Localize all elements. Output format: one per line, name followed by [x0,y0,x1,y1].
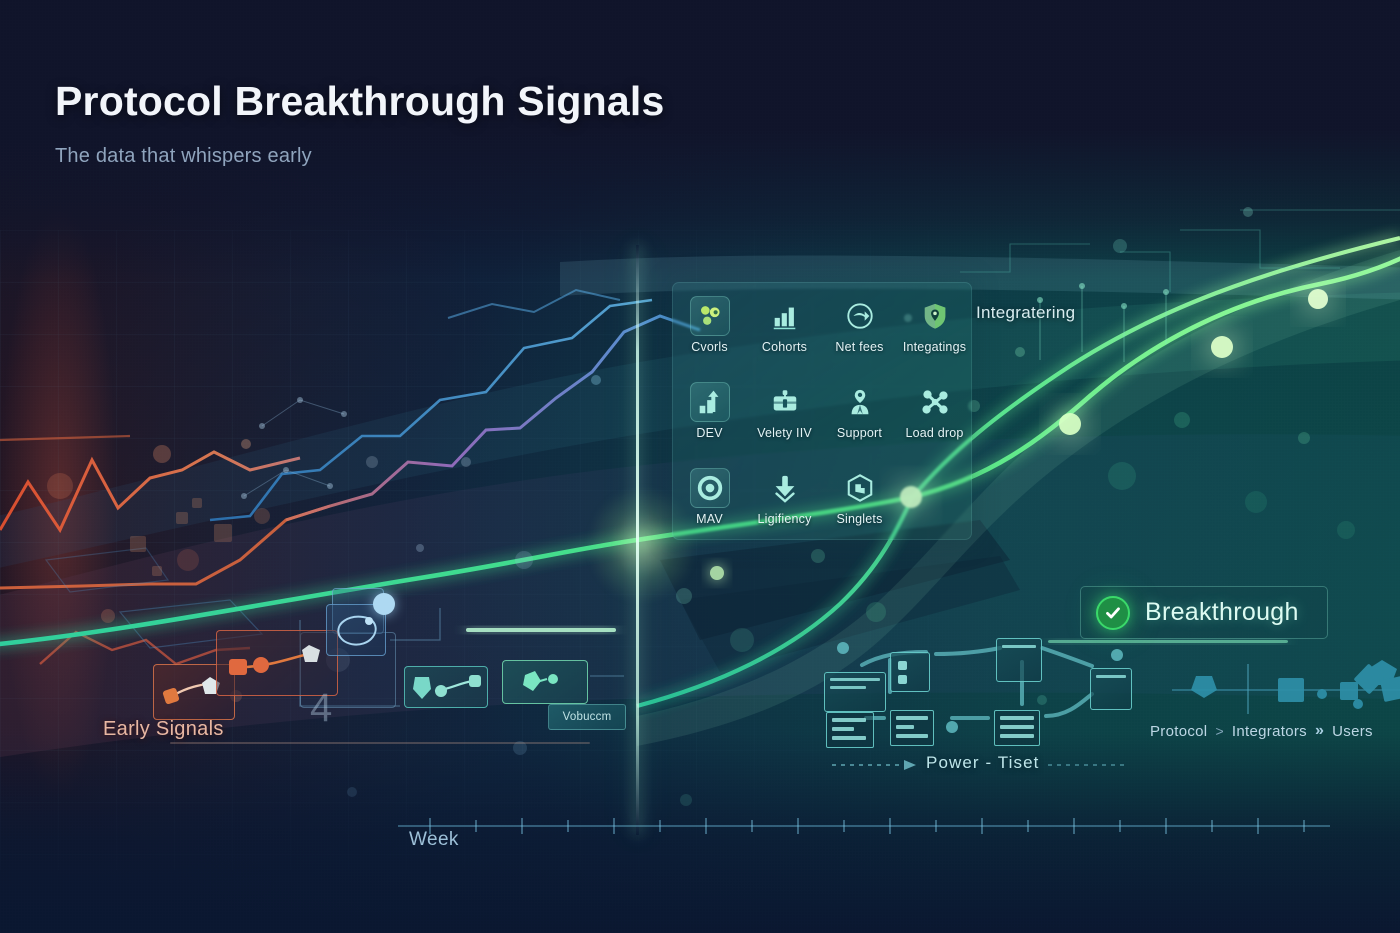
icon-cell-load-drop[interactable]: Load drop [897,368,972,454]
icon-label: Singlets [836,512,882,526]
network-node-6[interactable] [890,710,934,746]
icon-cell-dev[interactable]: DEV [672,368,747,454]
cells-cluster-icon [690,296,730,336]
icon-cell-singlets[interactable]: Singlets [822,454,897,540]
icon-label: Net fees [835,340,883,354]
bar-chart-icon [765,296,805,336]
status-badge-label: Breakthrough [1145,598,1299,627]
icon-cell-cohorts[interactable]: Cohorts [747,282,822,368]
icon-cell-support[interactable]: Support [822,368,897,454]
icon-label: Cohorts [762,340,807,354]
growth-bars-icon [690,382,730,422]
axis-label-week: Week [409,829,459,851]
briefcase-icon [765,382,805,422]
breadcrumb-item-protocol[interactable]: Protocol [1150,723,1207,740]
breadcrumb-item-users[interactable]: Users [1332,723,1373,740]
network-node-4[interactable] [1090,668,1132,710]
icon-label: Support [837,426,882,440]
signal-card-blue[interactable] [326,604,386,656]
icon-cell-net-fees[interactable]: Net fees [822,282,897,368]
metrics-icon-panel[interactable]: CvorlsCohortsNet feesIntegatingsDEVVelet… [672,282,972,540]
node-edge-glyph [405,667,489,709]
node-line [1000,734,1034,738]
icon-cell-ligifiency[interactable]: Ligifiency [747,454,822,540]
ring-target-icon [690,468,730,508]
breadcrumb-item-integrators[interactable]: Integrators [1232,723,1307,740]
label-power-tiset: Power - Tiset [926,753,1040,773]
hero-canvas: Protocol Breakthrough Signals The data t… [0,0,1400,933]
icon-label: Velety IIV [757,426,812,440]
node-line [832,727,854,731]
network-node-3[interactable] [996,638,1042,682]
icon-cell-cvorls[interactable]: Cvorls [672,282,747,368]
network-node-2[interactable] [890,652,930,692]
ghost-numeral: 4 [310,686,332,731]
network-node-5[interactable] [826,712,874,748]
chip-vobuccm[interactable]: Vobuccm [548,704,626,730]
panel-side-label: Integratering [976,303,1075,323]
card-node-dot [373,593,395,615]
breadcrumb-separator-2: » [1315,722,1324,740]
node-line [896,725,914,729]
header: Protocol Breakthrough Signals The data t… [55,78,665,168]
hexagon-shield-icon [840,468,880,508]
node-line [832,718,866,722]
arrow-circle-icon [840,296,880,336]
breadcrumb: Protocol > Integrators » Users [1150,722,1373,740]
icon-label: DEV [696,426,722,440]
network-node-1[interactable] [824,672,886,712]
icon-label: MAV [696,512,723,526]
icon-grid: CvorlsCohortsNet feesIntegatingsDEVVelet… [672,282,972,540]
icon-label: Cvorls [691,340,728,354]
icon-cell-integatings[interactable]: Integatings [897,282,972,368]
node-cluster-glyph [503,661,589,705]
node-dot [898,675,907,684]
download-arrow-icon [765,468,805,508]
status-badge[interactable]: Breakthrough [1080,586,1328,639]
icon-label: Load drop [905,426,963,440]
signal-card-teal-1[interactable] [404,666,488,708]
node-dot [898,661,907,670]
node-bar [1096,675,1126,678]
page-subtitle: The data that whispers early [55,145,665,168]
node-line [1000,716,1034,720]
network-share-icon [915,382,955,422]
node-line [1000,725,1034,729]
signal-card-teal-2[interactable] [502,660,588,704]
node-line [832,736,866,740]
shield-pin-icon [915,296,955,336]
icon-cell-velety-iiv[interactable]: Velety IIV [747,368,822,454]
icon-label: Integatings [903,340,966,354]
phase-divider [636,245,639,835]
network-node-7[interactable] [994,710,1040,746]
node-bar [830,686,866,689]
label-early-signals: Early Signals [103,718,224,741]
user-support-icon [840,382,880,422]
node-line [896,716,928,720]
node-bar [1002,645,1036,648]
check-circle-icon [1096,596,1130,630]
node-line [896,734,928,738]
icon-label: Ligifiency [757,512,811,526]
node-bar [830,678,880,681]
page-title: Protocol Breakthrough Signals [55,78,665,125]
breadcrumb-separator-1: > [1215,723,1223,739]
icon-cell-mav[interactable]: MAV [672,454,747,540]
